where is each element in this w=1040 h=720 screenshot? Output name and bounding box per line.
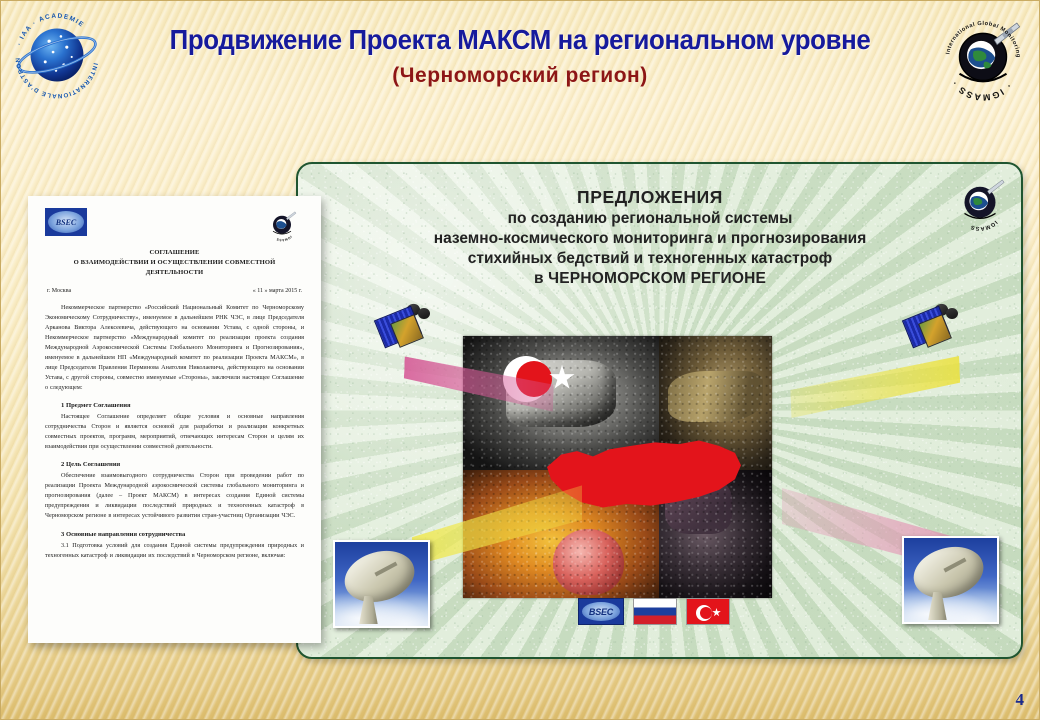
panel-title-line-1: ПРЕДЛОЖЕНИЯ bbox=[320, 186, 980, 209]
page-number: 4 bbox=[1016, 690, 1025, 710]
panel-title-line-4: стихийных бедствий и техногенных катастр… bbox=[320, 249, 980, 269]
satellite-dish-secondary-icon bbox=[418, 308, 430, 319]
document-bsec-logo: BSEC bbox=[45, 208, 87, 236]
slide-header: · IAA · ACADEMIE INTERNATIONALE D'ASTRON… bbox=[0, 0, 1040, 112]
page-title: Продвижение Проекта МАКСМ на регионально… bbox=[144, 24, 896, 56]
document-date: « 11 » марта 2015 г. bbox=[253, 288, 302, 294]
igmass-logo-panel: IGMASS bbox=[949, 170, 1011, 232]
document-section-heading-1: 1 Предмет Соглашения bbox=[45, 402, 304, 409]
panel-title-line-3: наземно-космического мониторинга и прогн… bbox=[320, 229, 980, 249]
document-igmass-logo: IGMASS bbox=[264, 206, 300, 242]
document-heading-line-1: СОГЛАШЕНИЕ bbox=[45, 248, 304, 258]
ground-station-right bbox=[902, 536, 999, 624]
turkey-flag-star bbox=[712, 608, 721, 617]
iaa-logo: · IAA · ACADEMIE INTERNATIONALE D'ASTRON… bbox=[8, 6, 106, 104]
flag-russia bbox=[633, 598, 677, 625]
bsec-logo: BSEC bbox=[578, 598, 624, 625]
agreement-document: BSEC IGMASS СОГЛАШЕНИЕ О ВЗАИМОДЕЙСТВИ bbox=[28, 196, 321, 643]
document-logos: BSEC IGMASS bbox=[45, 206, 304, 246]
igmass-logo: International Global Monitoring Aerospac… bbox=[936, 6, 1030, 104]
page-subtitle: (Черноморский регион) bbox=[120, 64, 920, 88]
document-section-body-3: 3.1 Подготовка условий для создания Един… bbox=[45, 541, 304, 561]
svg-text:IGMASS: IGMASS bbox=[970, 219, 999, 231]
document-meta: г. Москва « 11 » марта 2015 г. bbox=[45, 288, 304, 294]
document-preamble: Некоммерческое партнерство «Российский Н… bbox=[45, 303, 304, 393]
document-heading-line-3: ДЕЯТЕЛЬНОСТИ bbox=[45, 268, 304, 278]
document-section-body-1: Настоящее Соглашение определяет общие ус… bbox=[45, 412, 304, 452]
ground-station-left bbox=[333, 540, 430, 628]
document-section-heading-3: 3 Основные направления сотрудничества bbox=[45, 531, 304, 538]
document-section-body-2: Обеспечение взаимовыгодного сотрудничест… bbox=[45, 471, 304, 521]
flag-turkey bbox=[686, 598, 730, 625]
disaster-photo-collage bbox=[463, 336, 772, 598]
document-heading-line-2: О ВЗАИМОДЕЙСТВИИ И ОСУЩЕСТВЛЕНИИ СОВМЕСТ… bbox=[45, 258, 304, 268]
svg-text:IGMASS: IGMASS bbox=[275, 235, 292, 242]
partner-flags-row: BSEC bbox=[578, 598, 730, 625]
panel-title-line-2: по созданию региональной системы bbox=[320, 209, 980, 229]
document-section-heading-2: 2 Цель Соглашения bbox=[45, 461, 304, 468]
panel-title-line-5: в ЧЕРНОМОРСКОМ РЕГИОНЕ bbox=[320, 269, 980, 289]
turkey-flag-crescent-cut bbox=[700, 607, 712, 619]
satellite-left bbox=[378, 304, 460, 374]
satellite-right bbox=[906, 304, 988, 374]
bsec-logo-label: BSEC bbox=[589, 607, 613, 617]
satellite-dish-secondary-icon bbox=[946, 308, 958, 319]
document-place: г. Москва bbox=[47, 288, 71, 294]
panel-title-block: ПРЕДЛОЖЕНИЯ по созданию региональной сис… bbox=[320, 186, 980, 289]
turkey-crescent-cutout bbox=[516, 361, 552, 397]
document-heading: СОГЛАШЕНИЕ О ВЗАИМОДЕЙСТВИИ И ОСУЩЕСТВЛЕ… bbox=[45, 248, 304, 278]
presentation-slide: · IAA · ACADEMIE INTERNATIONALE D'ASTRON… bbox=[0, 0, 1040, 720]
document-bsec-label: BSEC bbox=[56, 218, 76, 227]
